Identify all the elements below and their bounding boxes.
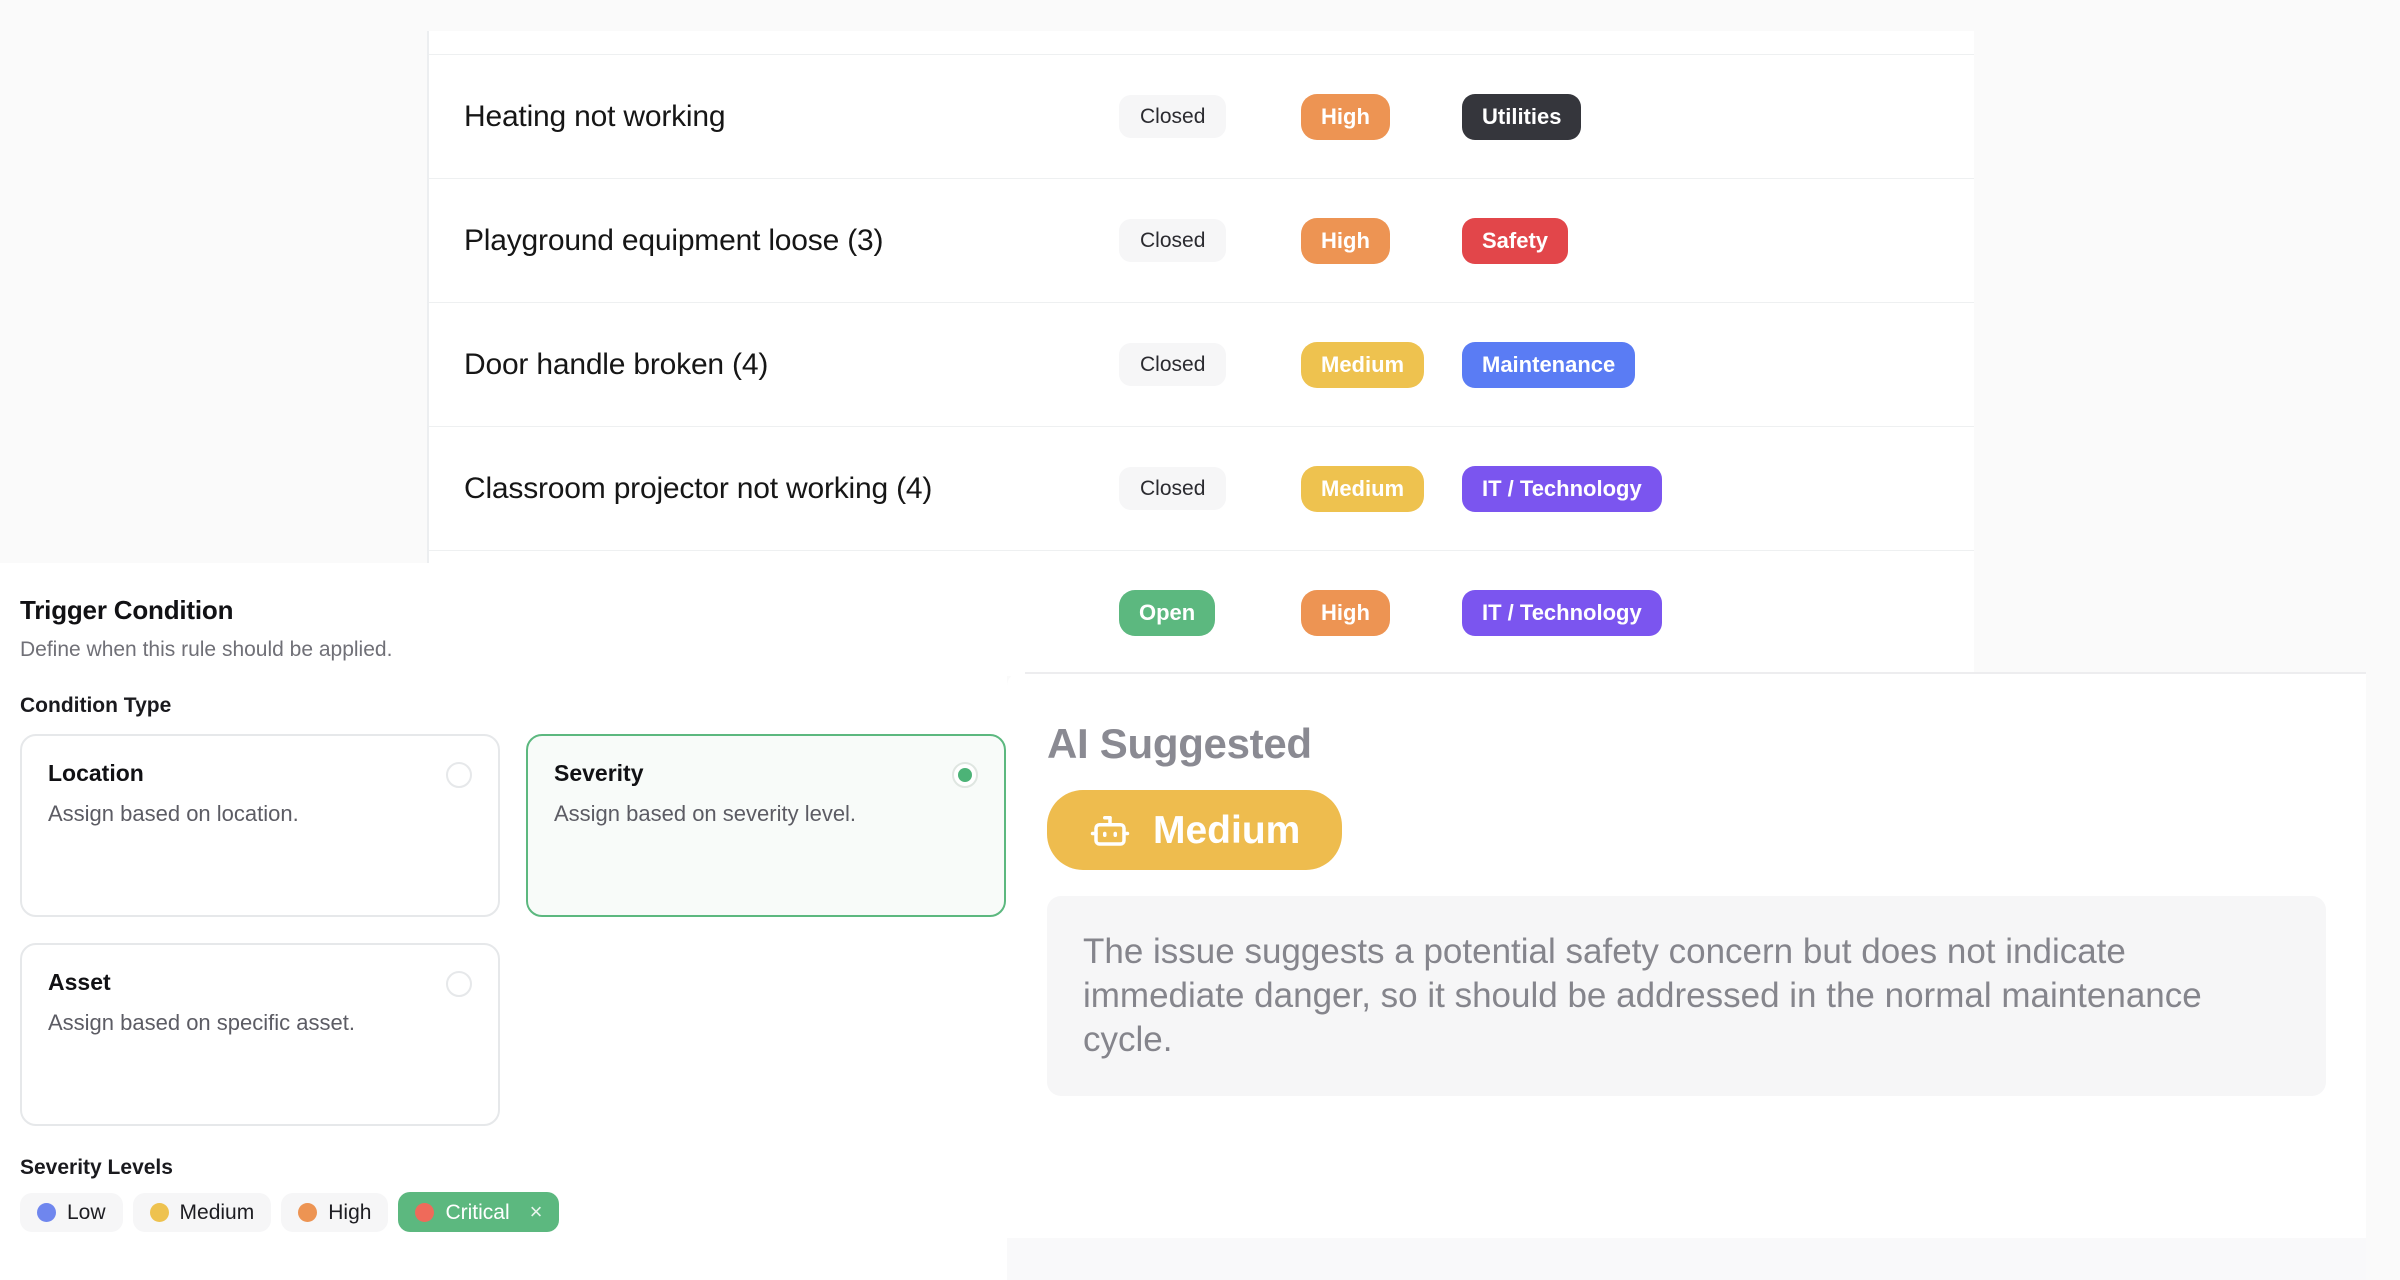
severity-level-chip[interactable]: Medium [133, 1193, 272, 1232]
condition-option-name: Asset [48, 969, 472, 996]
severity-chip-label: Low [67, 1202, 106, 1223]
issue-severity-cell: Medium [1301, 342, 1462, 388]
table-row[interactable]: Door handle broken (4)ClosedMediumMainte… [429, 303, 1974, 427]
severity-color-dot-icon [298, 1203, 317, 1222]
severity-level-chip[interactable]: Low [20, 1193, 123, 1232]
issue-status-cell: Closed [1119, 343, 1301, 386]
trigger-condition-title: Trigger Condition [20, 595, 987, 626]
issue-status-cell: Open [1119, 590, 1301, 636]
severity-levels-chip-group: LowMediumHighCritical× [20, 1192, 987, 1232]
condition-option-name: Location [48, 760, 472, 787]
ai-suggested-severity-badge[interactable]: Medium [1047, 790, 1342, 870]
table-row[interactable]: Heating not workingClosedHighUtilities [429, 55, 1974, 179]
condition-option-description: Assign based on specific asset. [48, 1010, 472, 1036]
issue-category-cell: Maintenance [1462, 342, 1635, 388]
condition-option-name: Severity [554, 760, 978, 787]
status-badge: Closed [1119, 467, 1226, 510]
category-badge: Safety [1462, 218, 1568, 264]
remove-chip-icon[interactable]: × [530, 1201, 543, 1223]
issue-status-cell: Closed [1119, 467, 1301, 510]
category-badge: Utilities [1462, 94, 1581, 140]
severity-level-chip[interactable]: Critical× [398, 1192, 559, 1232]
issue-category-cell: Safety [1462, 218, 1568, 264]
ai-panel-footer-strip [1007, 1238, 2366, 1280]
issue-category-cell: IT / Technology [1462, 590, 1662, 636]
severity-color-dot-icon [150, 1203, 169, 1222]
severity-badge: High [1301, 218, 1390, 264]
issue-severity-cell: Medium [1301, 466, 1462, 512]
status-badge: Closed [1119, 219, 1226, 262]
condition-option-severity[interactable]: Severity Assign based on severity level. [526, 734, 1006, 917]
severity-badge: Medium [1301, 342, 1424, 388]
table-row[interactable]: Classroom projector not working (4)Close… [429, 427, 1974, 551]
status-badge: Closed [1119, 95, 1226, 138]
trigger-condition-subtitle: Define when this rule should be applied. [20, 638, 987, 662]
radio-selected-icon[interactable] [952, 762, 978, 788]
condition-type-row-2: Asset Assign based on specific asset. [20, 943, 987, 1126]
severity-color-dot-icon [415, 1203, 434, 1222]
ai-suggested-panel: AI Suggested Medium The issue suggests a… [1007, 672, 2366, 1280]
condition-type-label: Condition Type [20, 694, 987, 718]
trigger-condition-panel: Trigger Condition Define when this rule … [0, 563, 1007, 1280]
category-badge: IT / Technology [1462, 590, 1662, 636]
table-top-strip [429, 31, 1974, 55]
severity-badge: Medium [1301, 466, 1424, 512]
issue-title: Heating not working [464, 100, 1119, 134]
category-badge: IT / Technology [1462, 466, 1662, 512]
ai-panel-divider [1025, 672, 2366, 674]
issue-title: Door handle broken (4) [464, 348, 1119, 382]
category-badge: Maintenance [1462, 342, 1635, 388]
severity-chip-label: Medium [180, 1202, 255, 1223]
severity-color-dot-icon [37, 1203, 56, 1222]
condition-option-location[interactable]: Location Assign based on location. [20, 734, 500, 917]
issue-title: Classroom projector not working (4) [464, 472, 1119, 506]
issue-status-cell: Closed [1119, 95, 1301, 138]
condition-option-description: Assign based on severity level. [554, 801, 978, 827]
severity-levels-label: Severity Levels [20, 1156, 987, 1180]
issue-severity-cell: High [1301, 94, 1462, 140]
condition-type-row-1: Location Assign based on location. Sever… [20, 734, 987, 917]
issue-severity-cell: High [1301, 590, 1462, 636]
severity-chip-label: High [328, 1202, 371, 1223]
radio-unselected-icon[interactable] [446, 762, 472, 788]
issue-category-cell: IT / Technology [1462, 466, 1662, 512]
severity-badge: High [1301, 94, 1390, 140]
issue-status-cell: Closed [1119, 219, 1301, 262]
ai-badge-label: Medium [1153, 811, 1300, 850]
radio-unselected-icon[interactable] [446, 971, 472, 997]
issue-title: Playground equipment loose (3) [464, 224, 1119, 258]
ai-suggested-heading: AI Suggested [1047, 672, 2326, 768]
condition-option-description: Assign based on location. [48, 801, 472, 827]
table-row[interactable]: Playground equipment loose (3)ClosedHigh… [429, 179, 1974, 303]
robot-icon [1089, 809, 1131, 851]
ai-suggested-reasoning: The issue suggests a potential safety co… [1047, 896, 2326, 1096]
severity-level-chip[interactable]: High [281, 1193, 388, 1232]
status-badge: Closed [1119, 343, 1226, 386]
issue-severity-cell: High [1301, 218, 1462, 264]
status-badge: Open [1119, 590, 1215, 636]
issue-category-cell: Utilities [1462, 94, 1581, 140]
severity-chip-label: Critical [445, 1202, 509, 1223]
condition-option-asset[interactable]: Asset Assign based on specific asset. [20, 943, 500, 1126]
severity-badge: High [1301, 590, 1390, 636]
